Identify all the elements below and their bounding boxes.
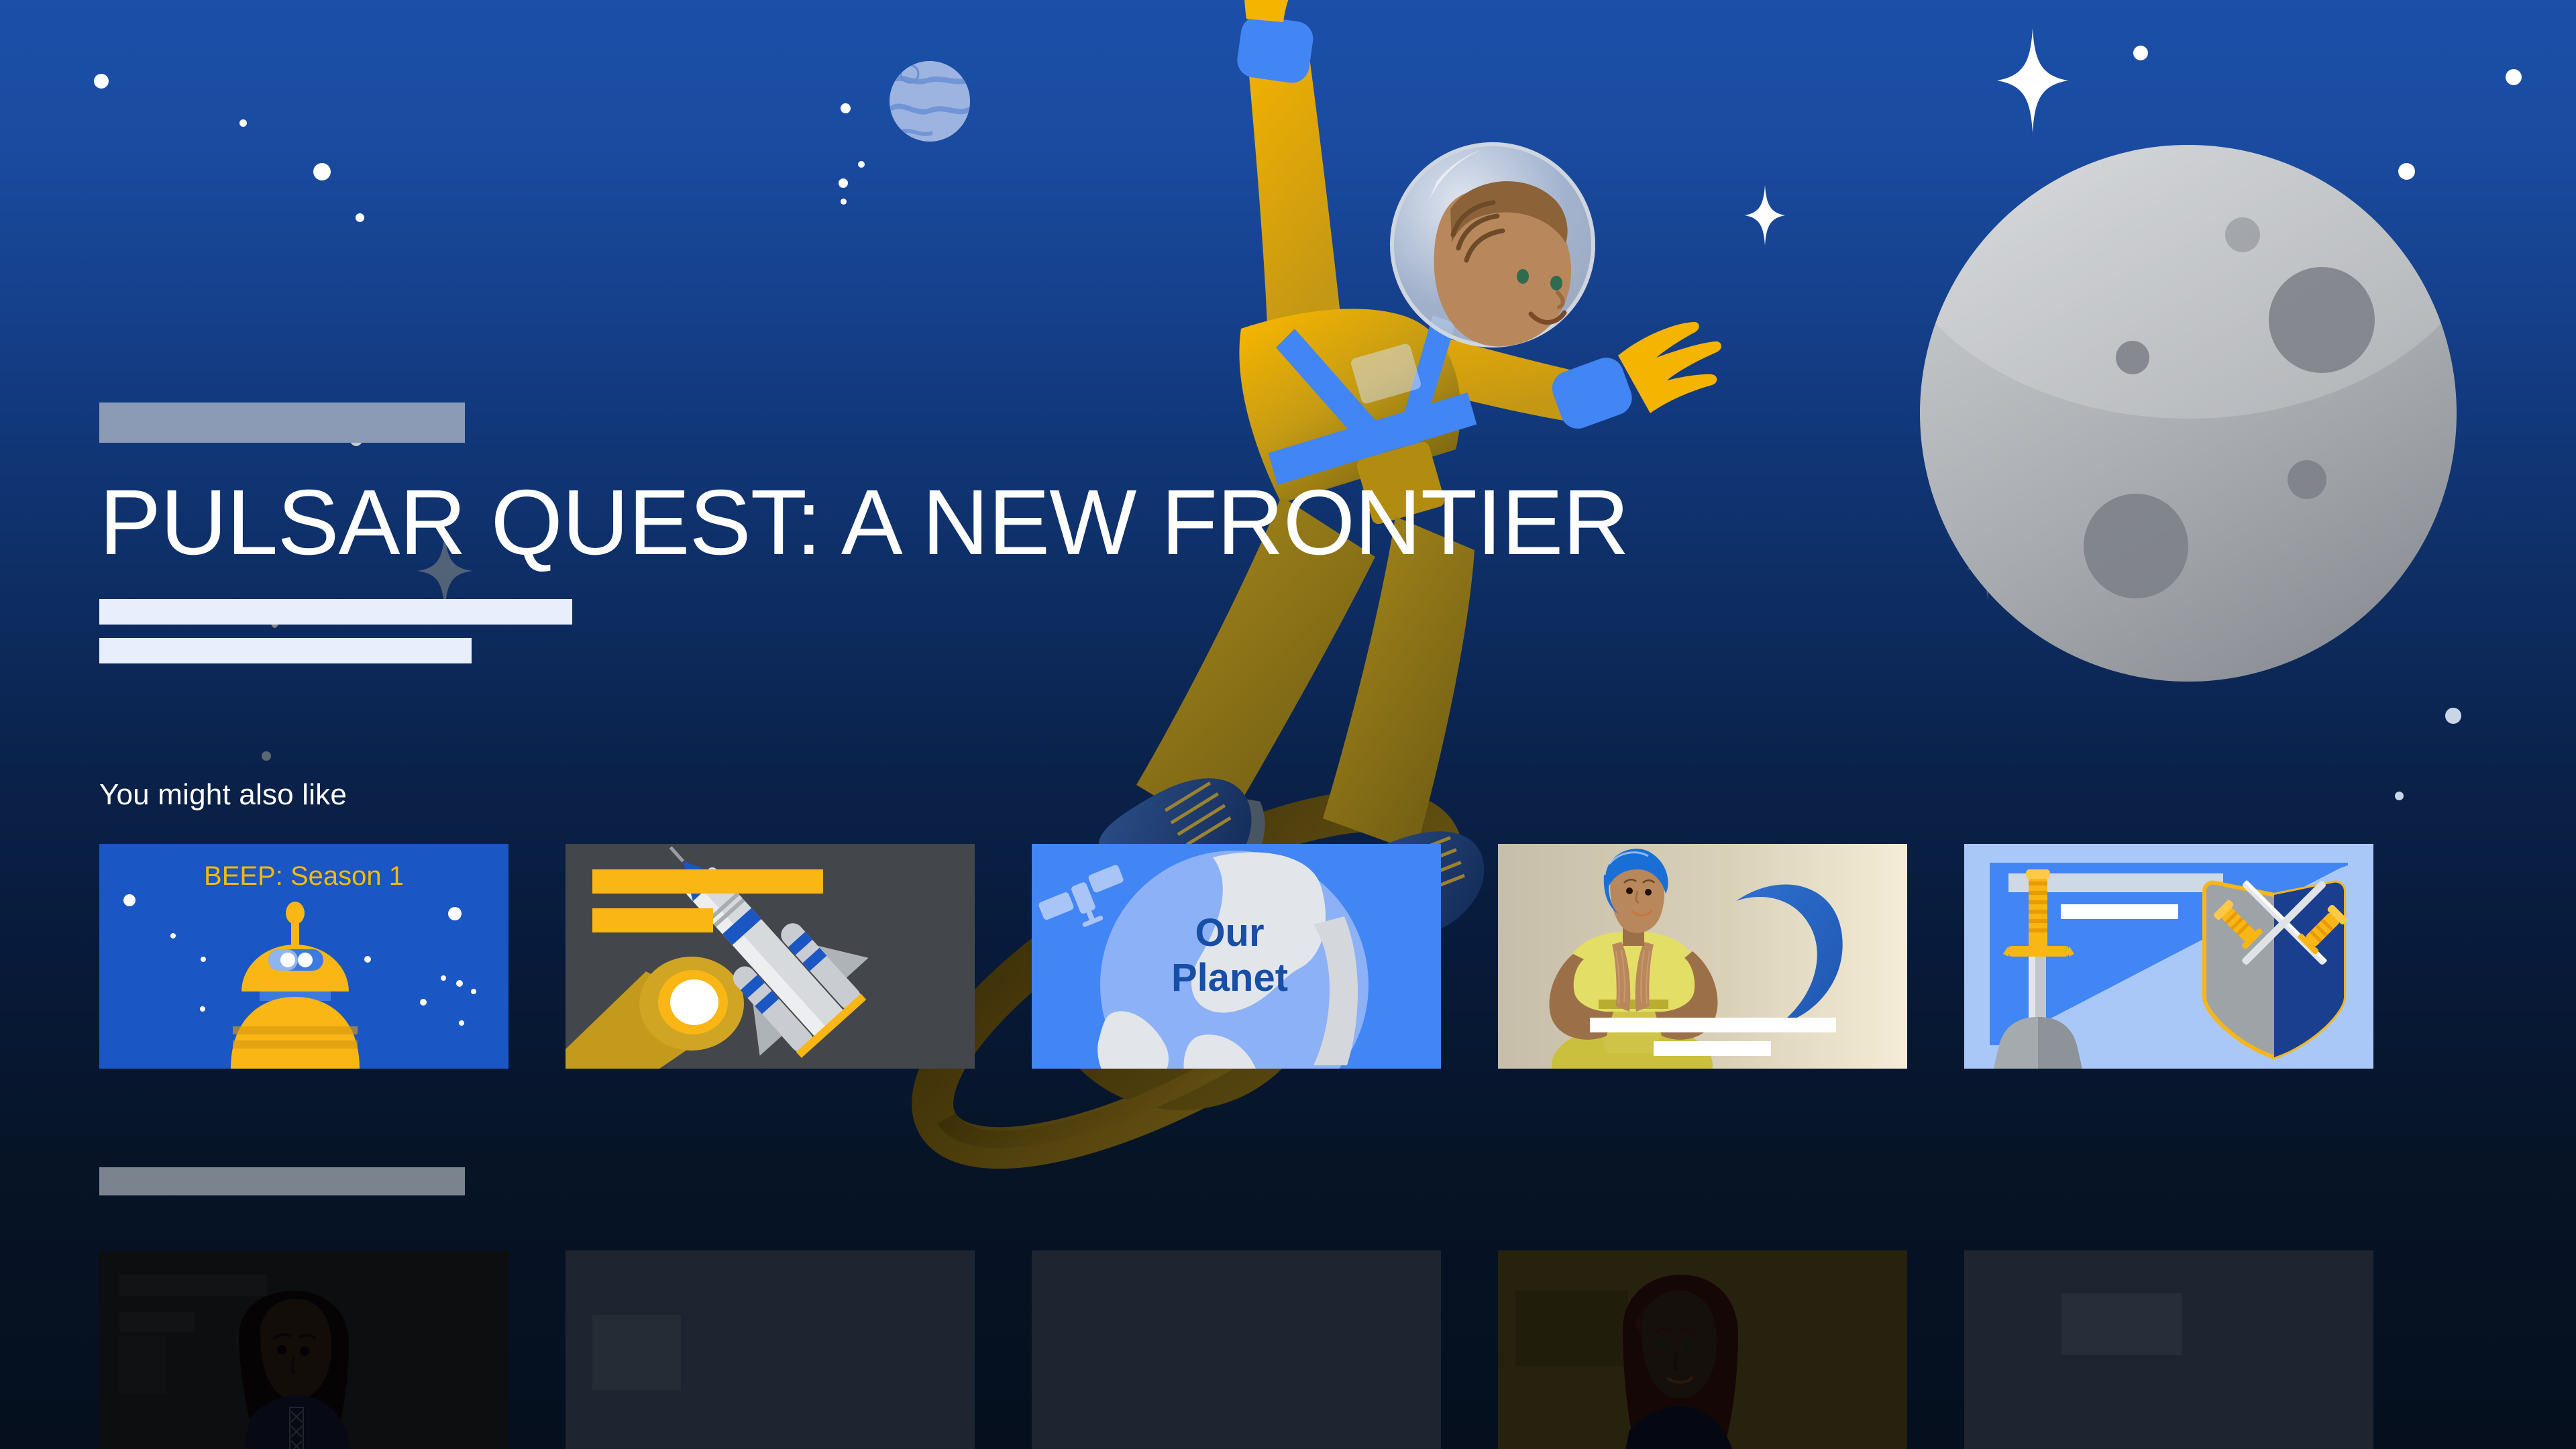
star-dot: [2133, 46, 2148, 60]
star-dot: [94, 74, 109, 89]
star-dot: [313, 163, 331, 180]
rail-label: You might also like: [99, 778, 2373, 812]
card-rocket-launch[interactable]: [566, 844, 975, 1069]
hero-eyebrow-placeholder: [99, 402, 465, 443]
hero-subtitle-placeholder-1: [99, 599, 572, 625]
star-dot: [841, 199, 847, 205]
card-title: Our Planet: [1146, 911, 1313, 1000]
card-row2-5[interactable]: [1964, 1250, 2373, 1449]
card-row: BEEP: Season 1: [99, 844, 2373, 1069]
sparkle-star-icon: [1996, 27, 2070, 134]
star-dot: [356, 213, 364, 222]
card-our-planet[interactable]: Our Planet: [1032, 844, 1441, 1069]
card-meditation[interactable]: [1498, 844, 1907, 1069]
star-dot: [858, 161, 865, 168]
card-row2-2[interactable]: [566, 1250, 975, 1449]
rail-secondary: [99, 1167, 2373, 1449]
star-dot: [262, 751, 271, 761]
card-row: [99, 1250, 2373, 1449]
hero-text-block: PULSAR QUEST: A NEW FRONTIER: [99, 402, 2045, 663]
card-row2-4[interactable]: [1498, 1250, 1907, 1449]
card-beep-season-1[interactable]: BEEP: Season 1: [99, 844, 508, 1069]
star-dot: [841, 103, 851, 113]
star-dot: [239, 119, 247, 127]
page-title: PULSAR QUEST: A NEW FRONTIER: [99, 476, 2045, 569]
card-row2-1[interactable]: [99, 1250, 508, 1449]
rail-label-placeholder: [99, 1167, 465, 1195]
card-row2-3[interactable]: [1032, 1250, 1441, 1449]
rail-you-might-also-like: You might also like: [99, 778, 2373, 1069]
star-dot: [2506, 69, 2522, 85]
card-sword-shield[interactable]: [1964, 844, 2373, 1069]
hero-subtitle-placeholder-2: [99, 638, 472, 663]
star-dot: [839, 178, 848, 188]
star-dot: [2445, 708, 2461, 724]
card-title: BEEP: Season 1: [99, 861, 508, 892]
star-dot: [2395, 792, 2404, 800]
hero-scene: PULSAR QUEST: A NEW FRONTIER You might a…: [0, 0, 2576, 1449]
